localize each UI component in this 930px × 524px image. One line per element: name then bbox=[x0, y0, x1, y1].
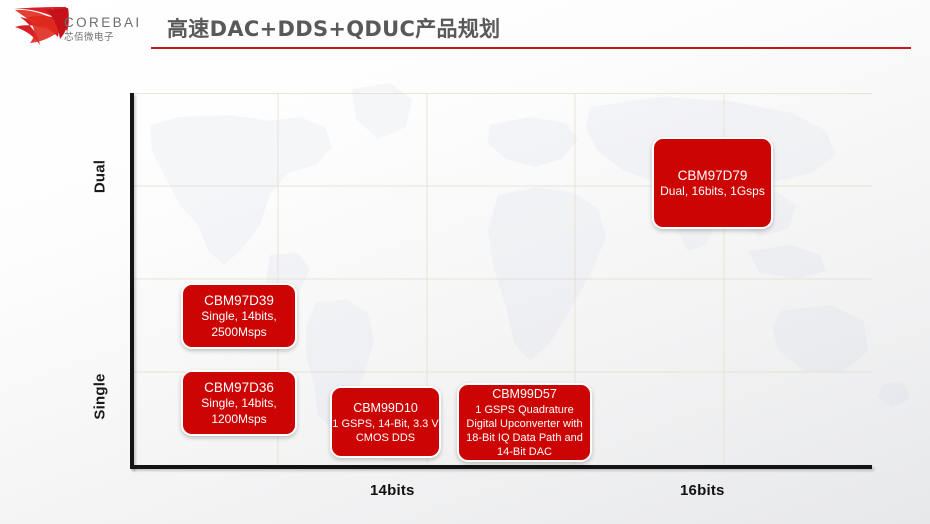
product-desc-line: Single, 14bits, bbox=[201, 396, 276, 412]
product-name: CBM99D57 bbox=[492, 386, 557, 403]
x-axis-label-16bits: 16bits bbox=[680, 482, 725, 499]
product-desc-line: 14-Bit DAC bbox=[497, 445, 552, 459]
corebai-logo: COREBAI 芯佰微电子 bbox=[12, 6, 142, 51]
x-axis-label-14bits: 14bits bbox=[370, 482, 415, 499]
product-box-cbm99d57[interactable]: CBM99D57 1 GSPS Quadrature Digital Upcon… bbox=[457, 383, 592, 462]
y-axis-label-dual: Dual bbox=[92, 147, 109, 207]
product-desc-line: 18-Bit IQ Data Path and bbox=[466, 431, 583, 445]
x-axis-line bbox=[130, 465, 872, 469]
product-desc-line: Dual, 16bits, 1Gsps bbox=[660, 184, 765, 200]
product-box-cbm97d39[interactable]: CBM97D39 Single, 14bits, 2500Msps bbox=[181, 283, 297, 349]
logo-text-en: COREBAI bbox=[64, 16, 150, 30]
logo-text-cn: 芯佰微电子 bbox=[64, 32, 150, 44]
product-box-cbm97d36[interactable]: CBM97D36 Single, 14bits, 1200Msps bbox=[181, 370, 297, 436]
product-desc-line: CMOS DDS bbox=[356, 431, 415, 445]
product-desc-line: 2500Msps bbox=[211, 325, 266, 341]
product-name: CBM97D79 bbox=[678, 167, 748, 184]
product-name: CBM99D10 bbox=[353, 400, 418, 417]
logo-wordmark: COREBAI 芯佰微电子 bbox=[64, 16, 150, 44]
y-axis-line bbox=[130, 93, 134, 469]
bird-swoosh-icon bbox=[12, 6, 72, 48]
title-underline-rule bbox=[151, 47, 911, 49]
product-box-cbm99d10[interactable]: CBM99D10 1 GSPS, 14-Bit, 3.3 V CMOS DDS bbox=[330, 386, 441, 458]
slide-canvas: COREBAI 芯佰微电子 高速DAC+DDS+QDUC产品规划 Dual Si… bbox=[0, 0, 930, 524]
product-desc-line: Digital Upconverter with bbox=[466, 417, 582, 431]
product-box-cbm97d79[interactable]: CBM97D79 Dual, 16bits, 1Gsps bbox=[652, 137, 773, 229]
y-axis-label-single: Single bbox=[92, 359, 109, 435]
page-title: 高速DAC+DDS+QDUC产品规划 bbox=[167, 13, 500, 43]
product-name: CBM97D36 bbox=[204, 379, 274, 396]
product-desc-line: Single, 14bits, bbox=[201, 309, 276, 325]
slide-header: COREBAI 芯佰微电子 高速DAC+DDS+QDUC产品规划 bbox=[0, 0, 930, 58]
product-desc-line: 1 GSPS Quadrature bbox=[475, 403, 573, 417]
product-desc-line: 1200Msps bbox=[211, 412, 266, 428]
product-desc-line: 1 GSPS, 14-Bit, 3.3 V bbox=[332, 417, 438, 431]
product-name: CBM97D39 bbox=[204, 292, 274, 309]
